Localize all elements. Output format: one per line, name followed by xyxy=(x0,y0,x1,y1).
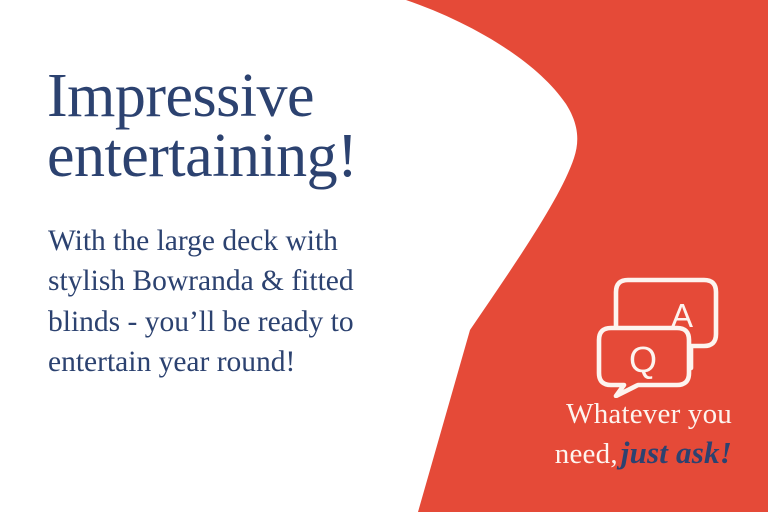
tagline-line-two: need,just ask! xyxy=(498,433,732,473)
tagline-line-one: Whatever you xyxy=(498,396,732,433)
answer-letter-a: A xyxy=(671,297,693,334)
body-paragraph: With the large deck with stylish Bowrand… xyxy=(48,221,448,383)
right-promo-column: A Q Whatever you need,just ask! xyxy=(498,0,768,512)
tagline-block: Whatever you need,just ask! xyxy=(498,396,750,473)
tagline-just-ask-text: just ask! xyxy=(621,435,732,470)
page-title: Impressive entertaining! xyxy=(47,66,477,186)
left-text-column: Impressive entertaining! With the large … xyxy=(0,0,470,512)
qa-speech-bubbles-icon: A Q xyxy=(596,272,736,398)
question-letter-q: Q xyxy=(629,339,657,380)
promo-poster: Impressive entertaining! With the large … xyxy=(0,0,768,512)
tagline-need-text: need, xyxy=(555,438,618,470)
